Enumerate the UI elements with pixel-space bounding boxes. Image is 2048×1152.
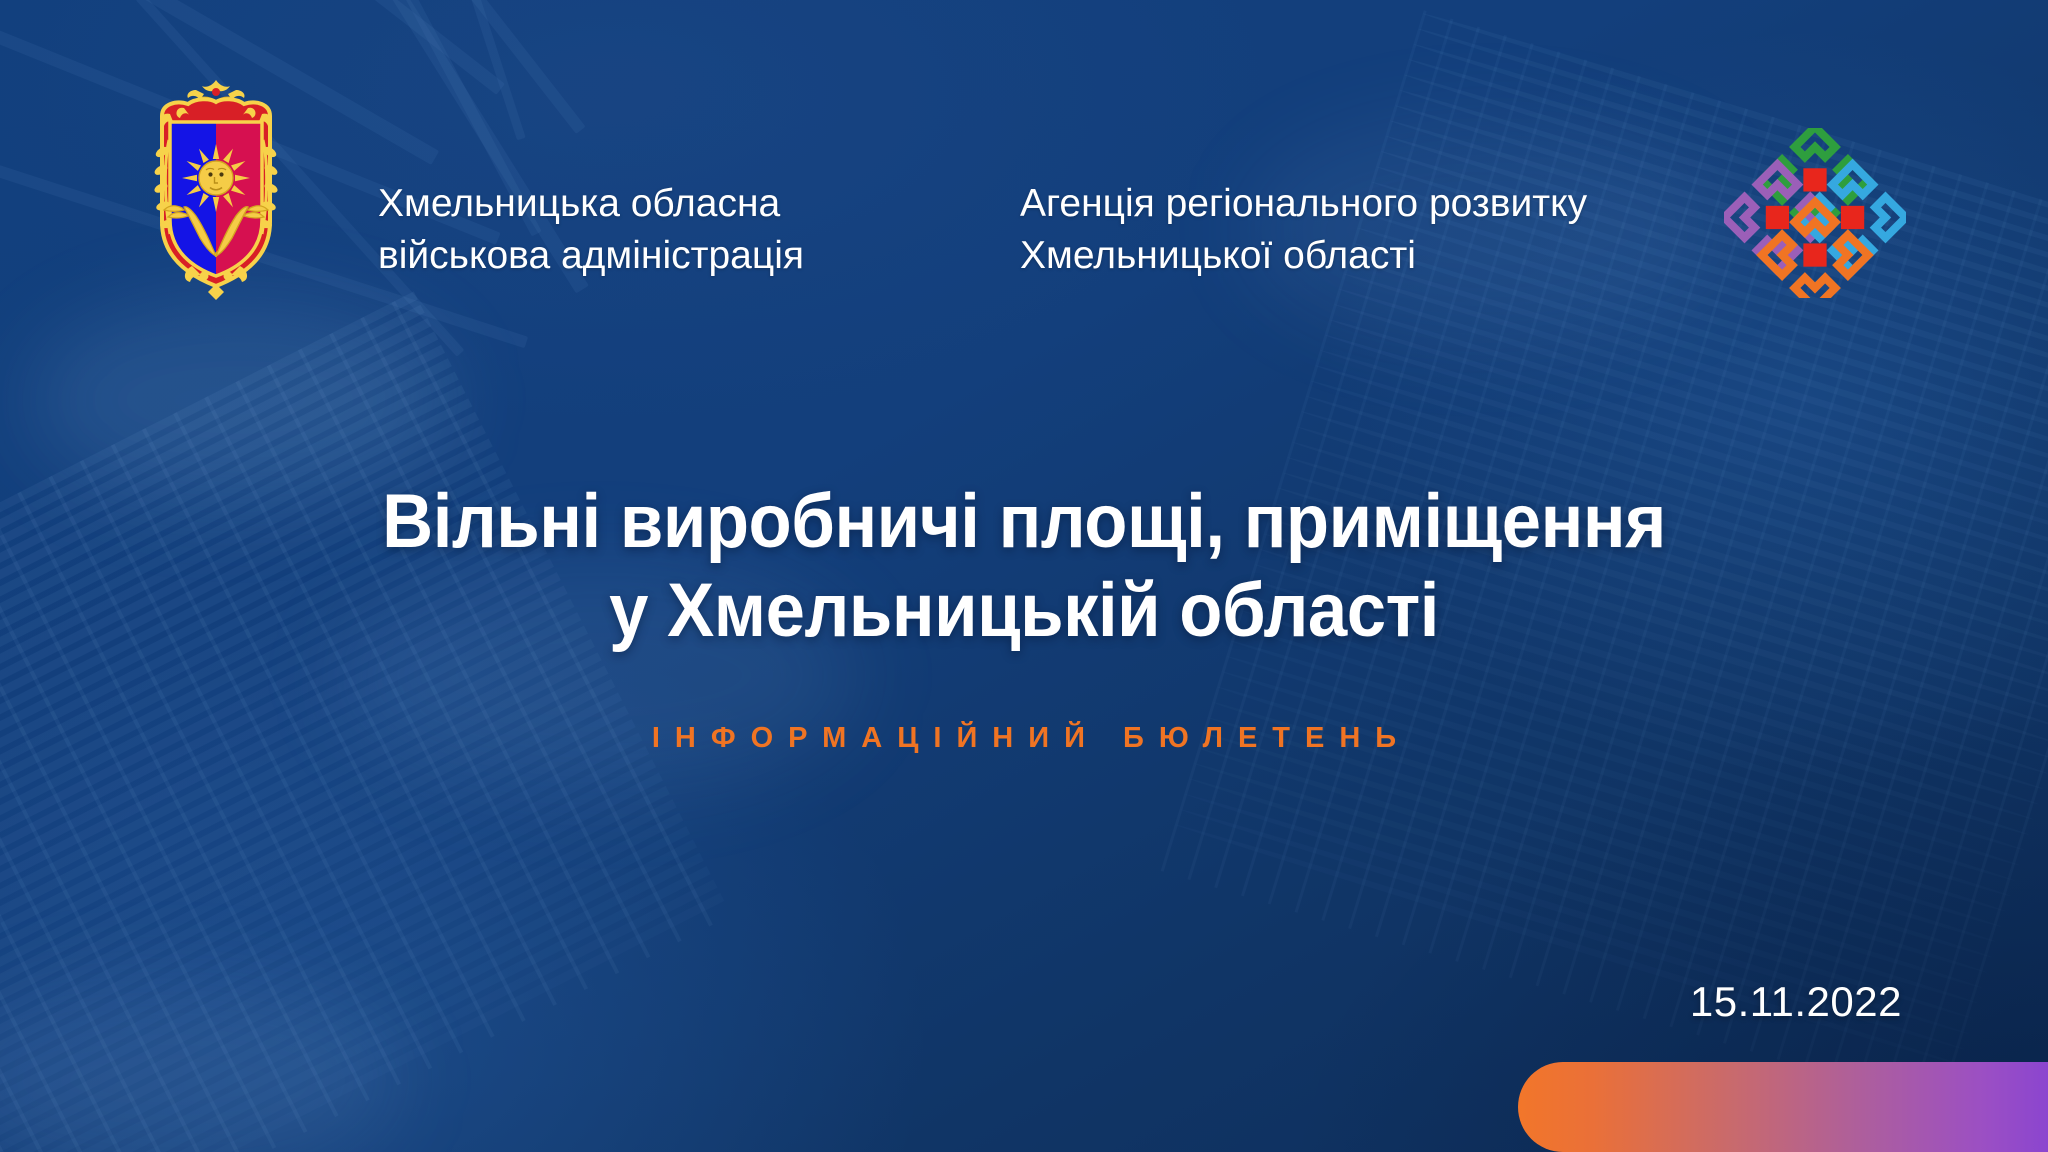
title-slide: Хмельницька обласна військова адміністра… <box>0 0 2048 1152</box>
background-facade-floor <box>0 652 602 1069</box>
background-facade-mullion <box>0 603 120 1152</box>
title-line-2: у Хмельницькій області <box>72 567 1977 656</box>
background-facade-floor <box>0 746 649 1152</box>
background-facade-rib <box>1197 745 1983 991</box>
accent-gradient-bar <box>1518 1062 2048 1152</box>
background-facade-rib <box>1225 653 2011 899</box>
background-facade-mullion <box>267 365 588 991</box>
background-facade-rib <box>1216 683 2002 929</box>
background-facade-floor <box>0 599 574 1016</box>
subtitle-information-bulletin: ІНФОРМАЦІЙНИЙ БЮЛЕТЕНЬ <box>0 722 2048 755</box>
hmelnytskyi-coat-of-arms-icon <box>126 70 306 302</box>
background-facade-vertical <box>1937 248 2048 1110</box>
right-organisation-name: Агенція регіонального розвитку Хмельниць… <box>1020 178 1587 282</box>
background-facade-floor <box>0 879 717 1152</box>
left-org-line-2: військова адміністрація <box>378 230 804 282</box>
background-facade-vertical <box>1884 231 2048 1093</box>
background-facade-floor <box>0 706 629 1123</box>
background-facade-floor <box>0 813 683 1152</box>
background-facade-mullion <box>298 349 619 975</box>
slide-header: Хмельницька обласна військова адміністра… <box>0 0 2048 330</box>
background-facade-mullion <box>0 571 183 1152</box>
background-facade-floor <box>0 719 636 1136</box>
background-facade-floor <box>0 853 704 1152</box>
right-org-line-1: Агенція регіонального розвитку <box>1020 178 1587 230</box>
background-facade-rib <box>1221 668 2007 914</box>
background-facade-floor <box>0 626 588 1043</box>
background-facade-rib <box>1230 638 2016 884</box>
background-facade-mullion <box>236 380 557 1006</box>
publication-date: 15.11.2022 <box>1690 978 1902 1026</box>
background-facade-vertical <box>1910 239 2048 1101</box>
background-facade-floor <box>0 759 656 1152</box>
background-facade-floor <box>0 839 697 1152</box>
background-facade-mullion <box>0 619 89 1152</box>
background-cloud <box>30 300 450 500</box>
background-facade-floor <box>0 866 711 1152</box>
regional-development-agency-logo-icon <box>1724 128 1906 298</box>
left-org-line-1: Хмельницька обласна <box>378 178 804 230</box>
background-facade-floor <box>0 773 663 1152</box>
background-facade-rib <box>1174 821 1960 1067</box>
background-facade-floor <box>0 732 643 1149</box>
background-facade-floor <box>0 612 581 1029</box>
left-organisation-name: Хмельницька обласна військова адміністра… <box>378 178 804 282</box>
background-cloud <box>0 980 400 1152</box>
title-line-1: Вільні виробничі площі, приміщення <box>72 478 1977 567</box>
background-facade-floor <box>0 826 690 1152</box>
background-facade-mullion <box>0 587 151 1152</box>
background-facade-rib <box>1202 729 1988 975</box>
background-facade-floor <box>0 639 595 1056</box>
page-title: Вільні виробничі площі, приміщення у Хме… <box>0 478 2048 656</box>
background-facade-floor <box>0 893 724 1152</box>
background-facade-floor <box>0 786 670 1152</box>
right-org-line-2: Хмельницької області <box>1020 230 1587 282</box>
background-facade-floor <box>0 799 677 1152</box>
background-facade-mullion <box>0 635 58 1152</box>
background-facade-rib <box>1193 760 1979 1006</box>
